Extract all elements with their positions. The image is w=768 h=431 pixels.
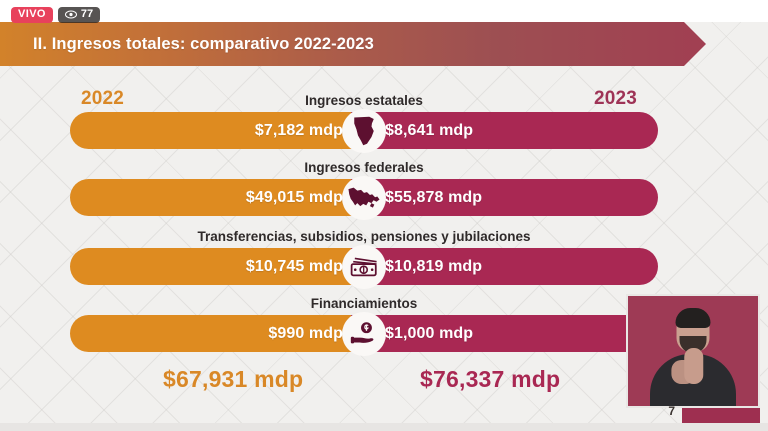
footer-accent-bar [682,408,760,423]
row-label: Financiamientos [70,296,658,311]
live-badges: VIVO 77 [11,7,100,23]
live-strip [0,0,768,22]
interpreter-hand-upper [684,348,703,384]
sign-language-interpreter-video [626,294,760,408]
bar-2023: $1,000 mdp [351,315,658,352]
row-label: Ingresos federales [70,160,658,175]
bar-2022: $49,015 mdp [70,179,377,216]
eye-icon [65,10,77,19]
total-2022: $67,931 mdp [163,366,303,393]
bottom-strip [0,423,768,431]
bar-2023: $10,819 mdp [351,248,658,285]
bar-2023: $8,641 mdp [351,112,658,149]
row-label: Ingresos estatales [70,93,658,108]
bar-2022: $990 mdp [70,315,377,352]
bar-2022: $7,182 mdp [70,112,377,149]
viewer-count-value: 77 [81,9,93,20]
bar-2023: $55,878 mdp [351,179,658,216]
banknote-icon [342,245,386,289]
row-label: Transferencias, subsidios, pensiones y j… [70,229,658,244]
viewer-count-badge: 77 [58,7,100,23]
hand-coin-icon [342,312,386,356]
live-badge: VIVO [11,7,53,23]
presentation-slide: VIVO 77 II. Ingresos totales: comparativ… [0,0,768,431]
page-title: II. Ingresos totales: comparativo 2022-2… [33,35,374,54]
page-number: 7 [668,404,675,418]
bar-2022: $10,745 mdp [70,248,377,285]
total-2023: $76,337 mdp [420,366,560,393]
mexico-map-icon [342,176,386,220]
sonora-map-icon [342,109,386,153]
slide-title-banner: II. Ingresos totales: comparativo 2022-2… [0,22,706,66]
interpreter-hair [676,308,711,328]
